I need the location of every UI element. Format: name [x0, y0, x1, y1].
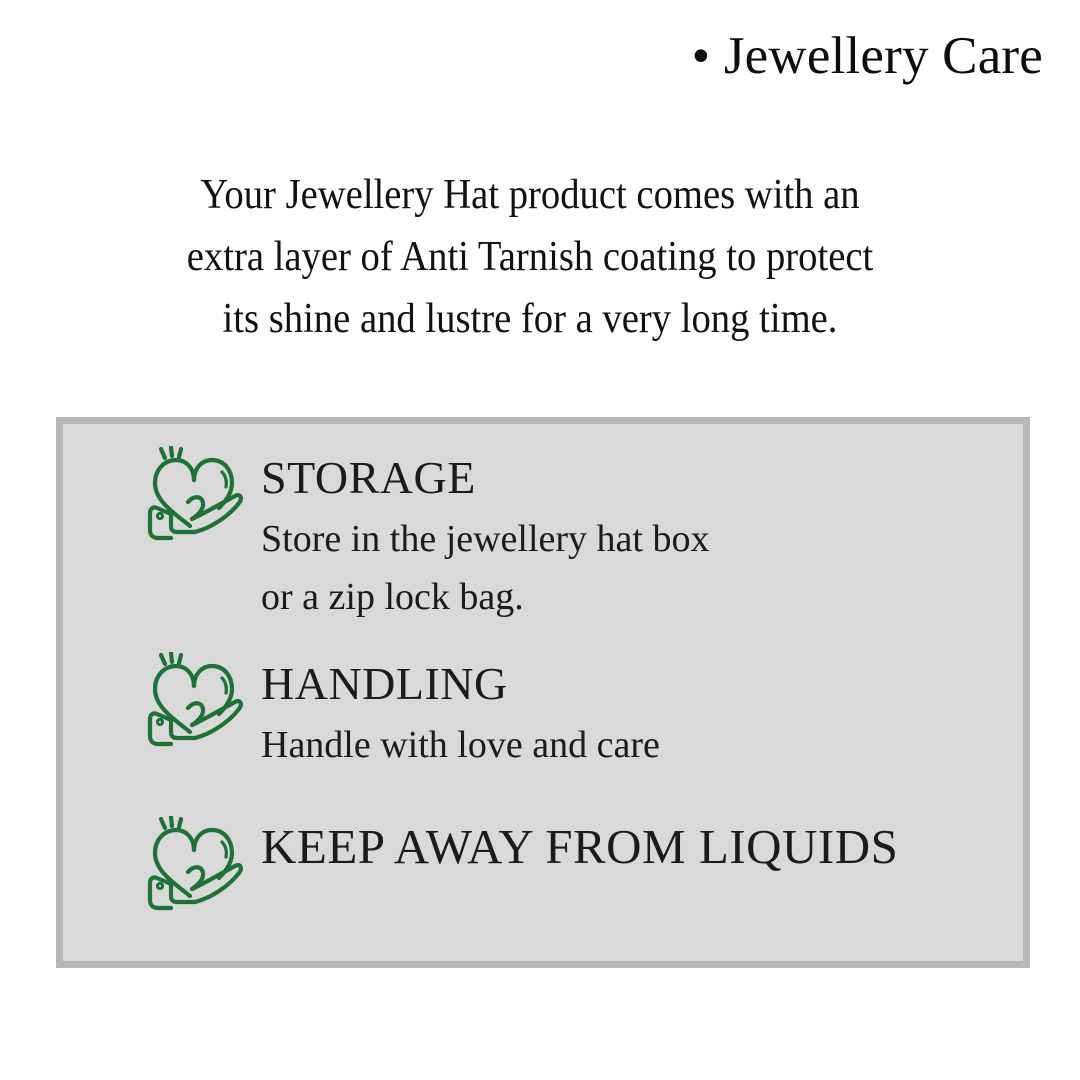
care-item-body: Handle with love and care — [261, 716, 660, 774]
intro-line-1: Your Jewellery Hat product comes with an — [98, 164, 963, 226]
care-item-body-line-1: Handle with love and care — [261, 716, 660, 774]
intro-line-3: its shine and lustre for a very long tim… — [98, 288, 963, 350]
care-item-body: Store in the jewellery hat box or a zip … — [261, 510, 710, 626]
care-item-handling: HANDLING Handle with love and care — [143, 652, 660, 774]
care-item-heading: STORAGE — [261, 452, 476, 503]
care-item-heading: KEEP AWAY FROM LIQUIDS — [261, 819, 898, 874]
intro-line-2: extra layer of Anti Tarnish coating to p… — [98, 226, 963, 288]
heart-in-hand-icon — [143, 816, 243, 912]
heart-in-hand-icon — [143, 652, 243, 748]
care-item-body-line-1: Store in the jewellery hat box — [261, 510, 710, 568]
care-item-heading: HANDLING — [261, 658, 508, 709]
care-item-body-line-2: or a zip lock bag. — [261, 568, 710, 626]
intro-paragraph: Your Jewellery Hat product comes with an… — [60, 164, 1000, 350]
care-item-text: KEEP AWAY FROM LIQUIDS — [261, 816, 898, 872]
heart-in-hand-icon — [143, 446, 243, 542]
care-instructions-list: STORAGE Store in the jewellery hat box o… — [63, 424, 1023, 961]
care-item-storage: STORAGE Store in the jewellery hat box o… — [143, 446, 710, 626]
page-title: • Jewellery Care — [0, 30, 1043, 83]
care-item-text: HANDLING Handle with love and care — [261, 652, 660, 774]
care-item-text: STORAGE Store in the jewellery hat box o… — [261, 446, 710, 626]
care-item-keep-away-from-liquids: KEEP AWAY FROM LIQUIDS — [143, 816, 898, 912]
care-instructions-card: STORAGE Store in the jewellery hat box o… — [56, 417, 1030, 968]
